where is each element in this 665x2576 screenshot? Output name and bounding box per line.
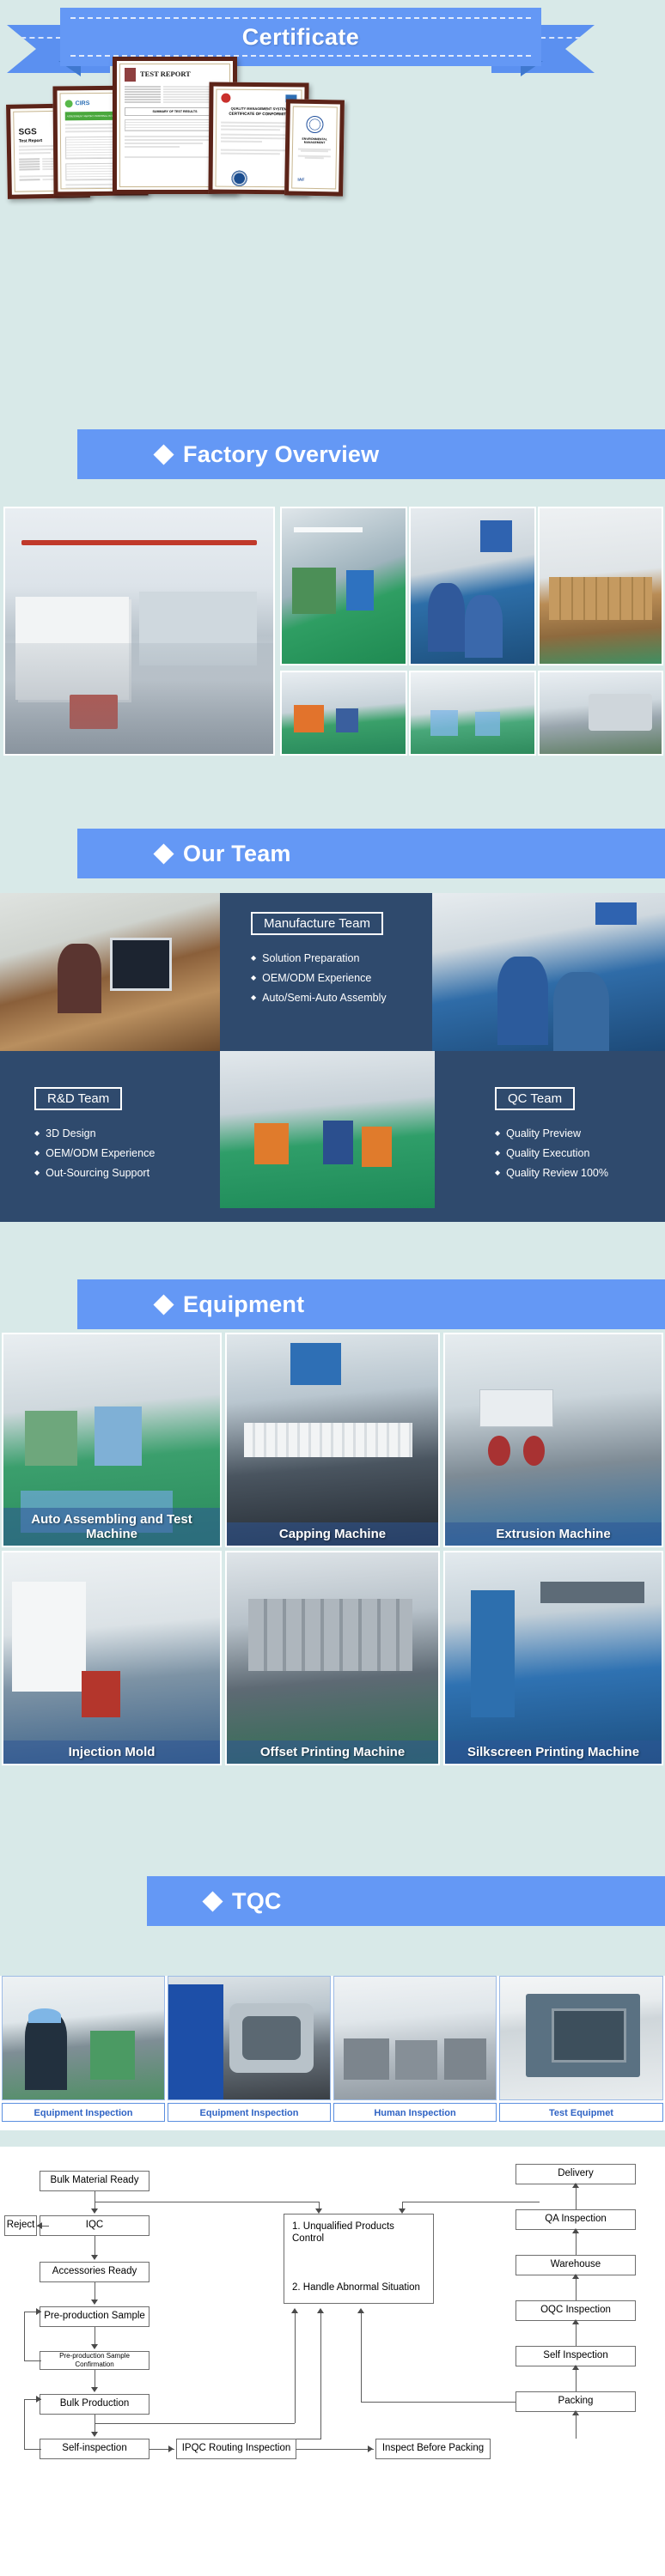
flow-arrow-down: [91, 2300, 98, 2305]
team-cell-manufacture: Manufacture Team Solution Preparation OE…: [220, 893, 443, 1051]
section-header-tqc: TQC: [147, 1876, 665, 1926]
tqc-label-4: Test Equipmet: [499, 2103, 663, 2122]
flow-line: [24, 2449, 41, 2450]
factory-photo-workshop-3[interactable]: [538, 671, 663, 756]
team-title-rnd: R&D Team: [34, 1087, 122, 1110]
equipment-silkscreen-printing[interactable]: Silkscreen Printing Machine: [443, 1551, 663, 1765]
iso-stamp-icon: [229, 169, 248, 188]
factory-photo-carton-warehouse[interactable]: [538, 507, 663, 665]
flow-arrow-right: [168, 2445, 174, 2452]
flow-arrow-down: [315, 2208, 322, 2214]
equipment-capping-machine[interactable]: Capping Machine: [225, 1333, 440, 1547]
flow-node-packing[interactable]: Packing: [516, 2391, 636, 2412]
flow-node-bulk-production[interactable]: Bulk Production: [40, 2394, 149, 2415]
flow-node-reject[interactable]: Reject: [4, 2215, 37, 2236]
flow-line: [296, 2439, 321, 2439]
flow-node-qa-inspection[interactable]: QA Inspection: [516, 2209, 636, 2230]
team-item: Quality Preview: [495, 1124, 665, 1144]
team-item: Quality Execution: [495, 1144, 665, 1163]
section-header-equipment: Equipment: [77, 1279, 665, 1329]
flow-line: [576, 2186, 577, 2209]
section-title: Factory Overview: [183, 441, 379, 468]
tqc-photo-equipment-inspection-2[interactable]: [168, 1976, 331, 2100]
flow-node-bulk-material-ready[interactable]: Bulk Material Ready: [40, 2171, 149, 2191]
flow-arrow-up: [317, 2308, 324, 2313]
flow-arrow-up: [572, 2319, 579, 2324]
team-items-rnd: 3D Design OEM/ODM Experience Out-Sourcin…: [34, 1124, 220, 1183]
flow-arrow-up: [357, 2308, 364, 2313]
flow-line: [24, 2360, 41, 2361]
flow-arrow-right: [36, 2396, 41, 2403]
flow-line: [295, 2313, 296, 2423]
tqc-label-2: Equipment Inspection: [168, 2103, 331, 2122]
flow-arrow-up: [572, 2228, 579, 2233]
factory-overview-gallery: [0, 502, 665, 760]
test-report-emblem-icon: [125, 68, 136, 82]
flow-line: [361, 2402, 516, 2403]
team-cell-rnd: R&D Team 3D Design OEM/ODM Experience Ou…: [0, 1051, 220, 1208]
flow-arrow-down: [91, 2208, 98, 2214]
text-line: [221, 137, 293, 140]
flow-line: [576, 2368, 577, 2391]
flow-node-delivery[interactable]: Delivery: [516, 2164, 636, 2184]
team-photo-production-floor[interactable]: [220, 1051, 435, 1208]
flow-line: [24, 2399, 25, 2449]
text-line: [301, 150, 327, 153]
flow-line: [95, 2423, 295, 2424]
test-report-title: TEST REPORT: [140, 70, 191, 78]
text-line: [221, 149, 293, 152]
section-title: Our Team: [183, 841, 291, 867]
text-line: [125, 139, 221, 141]
flow-line: [402, 2202, 540, 2202]
flow-line: [95, 2282, 95, 2301]
diamond-icon: [153, 843, 174, 864]
section-header-our-team: Our Team: [77, 829, 665, 878]
tqc-photo-equipment-inspection-1[interactable]: [2, 1976, 165, 2100]
flow-node-warehouse[interactable]: Warehouse: [516, 2255, 636, 2275]
team-items-qc: Quality Preview Quality Execution Qualit…: [495, 1124, 665, 1183]
section-title: Equipment: [183, 1291, 304, 1318]
flow-line: [95, 2236, 95, 2257]
equipment-caption: Capping Machine: [227, 1522, 438, 1546]
iso-env-emblem-icon: [306, 116, 323, 133]
control-line-1: 1. Unqualified Products Control: [292, 2221, 425, 2245]
flow-node-accessories-ready[interactable]: Accessories Ready: [40, 2262, 149, 2282]
flow-node-oqc-inspection[interactable]: OQC Inspection: [516, 2300, 636, 2321]
cirs-logo-icon: [65, 100, 73, 107]
factory-photo-workshop-1[interactable]: [280, 671, 407, 756]
text-line: [125, 136, 221, 137]
flow-node-iqc[interactable]: IQC: [40, 2215, 149, 2236]
flow-arrow-up: [291, 2308, 298, 2313]
tqc-gallery: Equipment Inspection Equipment Inspectio…: [0, 1976, 665, 2130]
factory-photo-injection-line[interactable]: [280, 507, 407, 665]
iso-env-subtitle: ENVIRONMENTAL MANAGEMENT: [297, 137, 332, 145]
tqc-label-3: Human Inspection: [333, 2103, 497, 2122]
section-title: TQC: [232, 1888, 282, 1915]
equipment-caption: Injection Mold: [3, 1741, 220, 1764]
flow-arrow-right: [368, 2445, 373, 2452]
flow-arrow-up: [572, 2183, 579, 2188]
tqc-photo-test-equipment[interactable]: [499, 1976, 663, 2100]
flow-arrow-up: [572, 2274, 579, 2279]
factory-photo-workshop-2[interactable]: [409, 671, 536, 756]
our-team-grid: Manufacture Team Solution Preparation OE…: [0, 893, 665, 1222]
cirs-logo: CIRS: [76, 100, 90, 106]
team-photo-assembly-line[interactable]: [432, 893, 665, 1051]
tqc-photo-human-inspection[interactable]: [333, 1976, 497, 2100]
flow-line: [576, 2277, 577, 2300]
equipment-auto-assembling[interactable]: Auto Assembling and Test Machine: [2, 1333, 222, 1547]
text-line: [221, 134, 293, 137]
flow-node-self-inspection-right[interactable]: Self Inspection: [516, 2346, 636, 2366]
flow-node-preproduction-sample[interactable]: Pre-production Sample: [40, 2306, 149, 2327]
flow-line: [576, 2412, 577, 2439]
flow-arrow-down: [91, 2387, 98, 2392]
control-line-2: 2. Handle Abnormal Situation: [292, 2282, 420, 2294]
certificate-ribbon-banner: Certificate: [60, 8, 541, 64]
flow-node-self-inspection-left[interactable]: Self-inspection: [40, 2439, 149, 2459]
flow-arrow-down: [91, 2255, 98, 2260]
product-detail-page: Certificate SGS Test Report: [0, 0, 665, 2576]
team-item: Auto/Semi-Auto Assembly: [251, 988, 443, 1008]
equipment-offset-printing[interactable]: Offset Printing Machine: [225, 1551, 440, 1765]
text-line: [221, 129, 280, 131]
flow-arrow-down: [91, 2432, 98, 2437]
flow-arrow-down: [91, 2344, 98, 2349]
team-title-manufacture: Manufacture Team: [251, 912, 383, 935]
flow-line: [576, 2232, 577, 2255]
team-item: Quality Review 100%: [495, 1163, 665, 1183]
production-flowchart: Bulk Material Ready IQC Reject Accessori…: [0, 2147, 665, 2576]
text-line: [221, 141, 262, 143]
equipment-caption: Offset Printing Machine: [227, 1741, 438, 1764]
text-line: [221, 122, 293, 125]
flow-node-inspect-before-packing[interactable]: Inspect Before Packing: [375, 2439, 491, 2459]
diamond-icon: [153, 444, 174, 465]
text-line: [305, 157, 324, 159]
equipment-caption: Silkscreen Printing Machine: [445, 1741, 662, 1764]
iso-emblem-icon: [221, 94, 230, 103]
factory-photo-machining-hall[interactable]: [3, 507, 275, 756]
flow-line: [576, 2323, 577, 2346]
factory-photo-assembly-workers[interactable]: [409, 507, 536, 665]
flow-arrow-down: [399, 2208, 406, 2214]
equipment-caption: Auto Assembling and Test Machine: [3, 1508, 220, 1546]
text-line: [221, 125, 293, 128]
flow-line: [95, 2327, 95, 2346]
team-item: Solution Preparation: [251, 949, 443, 969]
team-items-manufacture: Solution Preparation OEM/ODM Experience …: [251, 949, 443, 1008]
certificate-gallery: SGS Test Report: [0, 74, 665, 198]
text-line: [221, 153, 280, 155]
flow-line: [95, 2370, 95, 2389]
team-item: OEM/ODM Experience: [34, 1144, 220, 1163]
diamond-icon: [153, 1294, 174, 1315]
team-item: Out-Sourcing Support: [34, 1163, 220, 1183]
diamond-icon: [202, 1891, 223, 1911]
flow-line: [24, 2312, 25, 2361]
certificate-title: Certificate: [242, 24, 359, 51]
equipment-injection-mold[interactable]: Injection Mold: [2, 1551, 222, 1765]
flow-line: [296, 2449, 374, 2450]
certificate-frame-iso-environmental[interactable]: ENVIRONMENTAL MANAGEMENT IAF: [284, 99, 345, 196]
text-line: [125, 156, 221, 158]
flow-arrow-right: [36, 2308, 41, 2315]
section-header-factory-overview: Factory Overview: [77, 429, 665, 479]
flow-arrow-left: [37, 2222, 42, 2229]
flow-node-ipqc-routing-inspection[interactable]: IPQC Routing Inspection: [176, 2439, 296, 2459]
iaf-mark-icon: IAF: [297, 178, 304, 183]
flow-line: [320, 2313, 321, 2439]
equipment-grid: Auto Assembling and Test Machine Capping…: [0, 1333, 665, 1779]
flow-node-unqualified-control[interactable]: 1. Unqualified Products Control 2. Handl…: [284, 2214, 434, 2304]
certificate-page-iso-environmental: ENVIRONMENTAL MANAGEMENT IAF: [291, 106, 338, 190]
flow-arrow-up: [572, 2365, 579, 2370]
text-line: [125, 143, 203, 144]
certificate-section: Certificate SGS Test Report: [0, 0, 665, 210]
equipment-caption: Extrusion Machine: [445, 1522, 662, 1546]
flow-line: [361, 2313, 362, 2403]
text-line: [125, 146, 180, 148]
team-cell-qc: QC Team Quality Preview Quality Executio…: [435, 1051, 665, 1208]
team-item: 3D Design: [34, 1124, 220, 1144]
team-item: OEM/ODM Experience: [251, 969, 443, 988]
team-title-qc: QC Team: [495, 1087, 575, 1110]
flow-node-preproduction-sample-confirmation[interactable]: Pre-production Sample Confirmation: [40, 2351, 149, 2370]
equipment-extrusion-machine[interactable]: Extrusion Machine: [443, 1333, 663, 1547]
tqc-label-1: Equipment Inspection: [2, 2103, 165, 2122]
flow-line: [95, 2191, 95, 2210]
flow-line: [95, 2202, 320, 2202]
text-line: [19, 152, 51, 155]
team-photo-office-designer[interactable]: [0, 893, 220, 1051]
